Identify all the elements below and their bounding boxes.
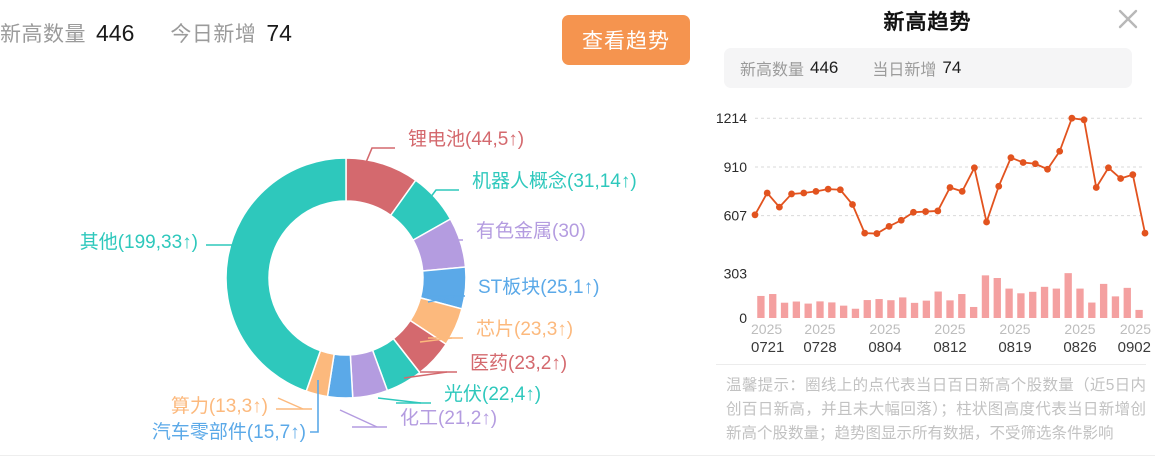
donut-chart-svg: 锂电池(44,5↑)机器人概念(31,14↑)有色金属(30)ST板块(25,1… (0, 80, 700, 457)
trend-bar[interactable] (864, 300, 871, 318)
strip-added-value: 74 (942, 58, 961, 78)
trend-point[interactable] (1068, 115, 1075, 122)
view-trend-button[interactable]: 查看趋势 (562, 15, 690, 65)
trend-bar[interactable] (994, 278, 1001, 318)
dialog-header: 新高趋势 (700, 0, 1155, 44)
trend-bar[interactable] (970, 307, 977, 318)
trend-bar[interactable] (1041, 287, 1048, 318)
y-axis-tick: 607 (724, 208, 748, 224)
slice-label: 算力(13,3↑) (171, 395, 268, 417)
trend-bar[interactable] (1029, 292, 1036, 318)
trend-point[interactable] (1093, 184, 1100, 191)
slice-label: 其他(199,33↑) (80, 231, 198, 253)
trend-bar[interactable] (875, 299, 882, 318)
trend-bar[interactable] (816, 301, 823, 318)
trend-point[interactable] (898, 217, 905, 224)
trend-bar[interactable] (923, 301, 930, 318)
new-high-trend-screen: 新高数量 446 今日新增 74 查看趋势 锂电池(44,5↑)机器人概念(31… (0, 0, 1155, 457)
today-added-label: 今日新增 (170, 18, 256, 48)
bottom-rule (0, 455, 1155, 456)
x-axis-date: 0812 (933, 339, 966, 356)
trend-point[interactable] (959, 188, 966, 195)
x-axis-year: 2025 (804, 321, 835, 337)
x-axis-date: 0819 (998, 339, 1031, 356)
y-axis-tick: 1214 (716, 110, 747, 126)
new-high-count-value: 446 (96, 20, 134, 47)
trend-point[interactable] (922, 208, 929, 215)
trend-bar[interactable] (946, 300, 953, 318)
strip-count-value: 446 (810, 58, 838, 78)
trend-bar[interactable] (1112, 296, 1119, 318)
strip-count-label: 新高数量 (740, 56, 804, 80)
trend-bar[interactable] (1124, 288, 1131, 318)
trend-bar[interactable] (1065, 273, 1072, 318)
x-axis-date: 0728 (803, 339, 836, 356)
trend-point[interactable] (995, 183, 1002, 190)
slice-label: 医药(23,2↑) (470, 352, 567, 374)
trend-point[interactable] (1032, 160, 1039, 167)
close-icon[interactable] (1111, 2, 1145, 36)
x-axis-date: 0902 (1118, 339, 1151, 356)
trend-bar[interactable] (1088, 303, 1095, 318)
trend-point[interactable] (825, 186, 832, 193)
trend-point[interactable] (910, 209, 917, 216)
trend-bar[interactable] (1017, 293, 1024, 318)
stats-strip: 新高数量 446 当日新增 74 (724, 48, 1132, 88)
trend-bar[interactable] (887, 300, 894, 318)
page-title: 新高趋势 (700, 6, 1155, 36)
x-axis-date: 0721 (751, 339, 784, 356)
trend-point[interactable] (1142, 230, 1149, 237)
trend-bar[interactable] (828, 302, 835, 318)
trend-bar[interactable] (935, 292, 942, 318)
strip-added-label: 当日新增 (872, 56, 936, 80)
trend-point[interactable] (1044, 166, 1051, 173)
x-axis-year: 2025 (869, 321, 900, 337)
trend-bar[interactable] (781, 303, 788, 318)
x-axis-year: 2025 (1120, 321, 1151, 337)
donut-chart[interactable]: 锂电池(44,5↑)机器人概念(31,14↑)有色金属(30)ST板块(25,1… (0, 80, 700, 457)
trend-bar[interactable] (1100, 284, 1107, 318)
slice-label: 机器人概念(31,14↑) (472, 169, 637, 192)
x-axis-year: 2025 (1064, 321, 1095, 337)
sector-distribution-panel: 新高数量 446 今日新增 74 查看趋势 锂电池(44,5↑)机器人概念(31… (0, 0, 700, 457)
trend-bar[interactable] (840, 306, 847, 318)
trend-bar[interactable] (982, 275, 989, 318)
trend-point[interactable] (861, 230, 868, 237)
trend-bar[interactable] (757, 296, 764, 318)
slice-label: 光伏(22,4↑) (444, 383, 541, 405)
trend-point[interactable] (764, 190, 771, 197)
today-added-value: 74 (266, 20, 292, 47)
trend-bar[interactable] (958, 294, 965, 318)
slice-leader-line (340, 410, 377, 427)
trend-point[interactable] (1008, 154, 1015, 161)
trend-line (755, 118, 1145, 233)
trend-bar[interactable] (899, 297, 906, 318)
trend-point[interactable] (813, 188, 820, 195)
summary-bar: 新高数量 446 今日新增 74 (0, 18, 292, 48)
slice-label: ST板块(25,1↑) (478, 276, 599, 298)
slice-leader-line (278, 398, 303, 409)
bar-y-axis-tick: 0 (739, 310, 747, 326)
trend-bar[interactable] (1053, 289, 1060, 318)
trend-point[interactable] (800, 190, 807, 197)
slice-label: 锂电池(44,5↑) (408, 128, 524, 150)
trend-point[interactable] (983, 219, 990, 226)
trend-bar[interactable] (1076, 289, 1083, 318)
tip-text: 温馨提示：圈线上的点代表当日百日新高个股数量（近5日内创百日新高，并且未大幅回落… (726, 374, 1146, 446)
trend-point[interactable] (776, 204, 783, 211)
new-high-count-label: 新高数量 (0, 18, 86, 48)
bar-y-axis-tick: 303 (724, 265, 748, 281)
slice-label: 芯片(23,3↑) (476, 318, 573, 340)
section-divider (716, 364, 1146, 365)
x-axis-date: 0826 (1063, 339, 1096, 356)
trend-point[interactable] (1129, 171, 1136, 178)
slice-label: 有色金属(30) (476, 220, 586, 242)
x-axis-year: 2025 (934, 321, 965, 337)
trend-point[interactable] (873, 230, 880, 237)
y-axis-tick: 910 (724, 159, 748, 175)
trend-bar[interactable] (793, 302, 800, 318)
trend-point[interactable] (886, 223, 893, 230)
trend-point[interactable] (1105, 164, 1112, 171)
trend-point[interactable] (849, 201, 856, 208)
trend-point[interactable] (934, 208, 941, 215)
trend-bar[interactable] (911, 303, 918, 318)
trend-point[interactable] (971, 164, 978, 171)
trend-point[interactable] (1056, 148, 1063, 155)
trend-bar[interactable] (1005, 289, 1012, 318)
trend-point[interactable] (837, 186, 844, 193)
trend-point[interactable] (947, 184, 954, 191)
x-axis-date: 0804 (868, 339, 901, 356)
x-axis-year: 2025 (999, 321, 1030, 337)
trend-bar[interactable] (1135, 310, 1142, 318)
trend-bar[interactable] (852, 309, 859, 318)
trend-bar[interactable] (805, 304, 812, 318)
trend-point[interactable] (1020, 159, 1027, 166)
trend-charts-svg: 6079101214030320250721202507282025080420… (700, 96, 1155, 358)
slice-label: 化工(21,2↑) (400, 407, 497, 429)
slice-label: 汽车零部件(15,7↑) (152, 421, 306, 443)
trend-point[interactable] (1081, 116, 1088, 123)
trend-charts[interactable]: 6079101214030320250721202507282025080420… (700, 96, 1155, 358)
trend-point[interactable] (1117, 175, 1124, 182)
trend-point[interactable] (788, 191, 795, 198)
trend-bar[interactable] (769, 294, 776, 318)
trend-point[interactable] (752, 211, 759, 218)
x-axis-year: 2025 (751, 321, 782, 337)
